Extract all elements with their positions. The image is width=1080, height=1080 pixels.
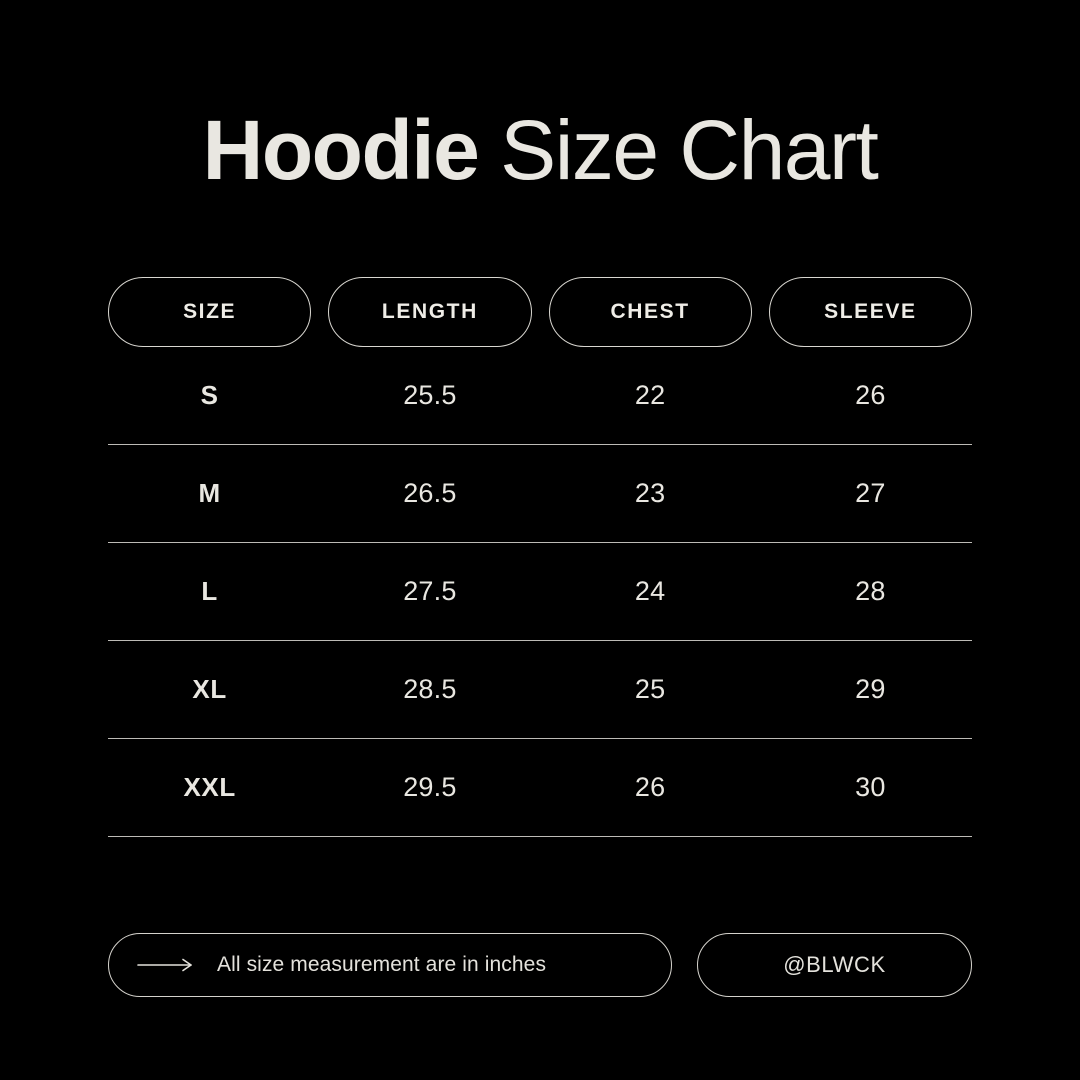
- cell-size: M: [108, 478, 311, 509]
- page-title-bold: Hoodie: [203, 103, 479, 197]
- table-row: S 25.5 22 26: [108, 347, 972, 445]
- column-header-length[interactable]: LENGTH: [328, 277, 531, 347]
- cell-size: XXL: [108, 772, 311, 803]
- cell-chest: 24: [549, 576, 752, 607]
- table-body: S 25.5 22 26 M 26.5 23 27 L 27.5 24 28 X…: [108, 347, 972, 837]
- cell-chest: 26: [549, 772, 752, 803]
- cell-chest: 22: [549, 380, 752, 411]
- table-header-row: SIZE LENGTH CHEST SLEEVE: [108, 277, 972, 347]
- cell-sleeve: 26: [769, 380, 972, 411]
- measurement-note-pill: All size measurement are in inches: [108, 933, 672, 997]
- cell-size: L: [108, 576, 311, 607]
- size-chart-canvas: Hoodie Size Chart SIZE LENGTH CHEST SLEE…: [0, 0, 1080, 1080]
- column-header-chest[interactable]: CHEST: [549, 277, 752, 347]
- cell-sleeve: 30: [769, 772, 972, 803]
- column-header-chest-label: CHEST: [611, 300, 690, 324]
- measurement-note-text: All size measurement are in inches: [217, 953, 546, 977]
- cell-length: 27.5: [328, 576, 531, 607]
- cell-size: S: [108, 380, 311, 411]
- cell-length: 26.5: [328, 478, 531, 509]
- size-table: SIZE LENGTH CHEST SLEEVE S 25.5 22 26 M …: [108, 277, 972, 837]
- page-title: Hoodie Size Chart: [0, 108, 1080, 192]
- cell-sleeve: 28: [769, 576, 972, 607]
- footer: All size measurement are in inches @BLWC…: [108, 933, 972, 997]
- cell-chest: 23: [549, 478, 752, 509]
- cell-length: 29.5: [328, 772, 531, 803]
- cell-sleeve: 29: [769, 674, 972, 705]
- cell-size: XL: [108, 674, 311, 705]
- column-header-size[interactable]: SIZE: [108, 277, 311, 347]
- arrow-right-icon: [137, 957, 195, 973]
- column-header-length-label: LENGTH: [382, 300, 478, 324]
- column-header-size-label: SIZE: [183, 300, 236, 324]
- table-row: XL 28.5 25 29: [108, 641, 972, 739]
- cell-length: 28.5: [328, 674, 531, 705]
- brand-handle-text: @BLWCK: [783, 952, 886, 978]
- cell-length: 25.5: [328, 380, 531, 411]
- table-row: L 27.5 24 28: [108, 543, 972, 641]
- table-row: XXL 29.5 26 30: [108, 739, 972, 837]
- column-header-sleeve[interactable]: SLEEVE: [769, 277, 972, 347]
- column-header-sleeve-label: SLEEVE: [824, 300, 916, 324]
- table-row: M 26.5 23 27: [108, 445, 972, 543]
- cell-sleeve: 27: [769, 478, 972, 509]
- page-title-light: Size Chart: [478, 103, 877, 197]
- cell-chest: 25: [549, 674, 752, 705]
- brand-handle-pill[interactable]: @BLWCK: [697, 933, 972, 997]
